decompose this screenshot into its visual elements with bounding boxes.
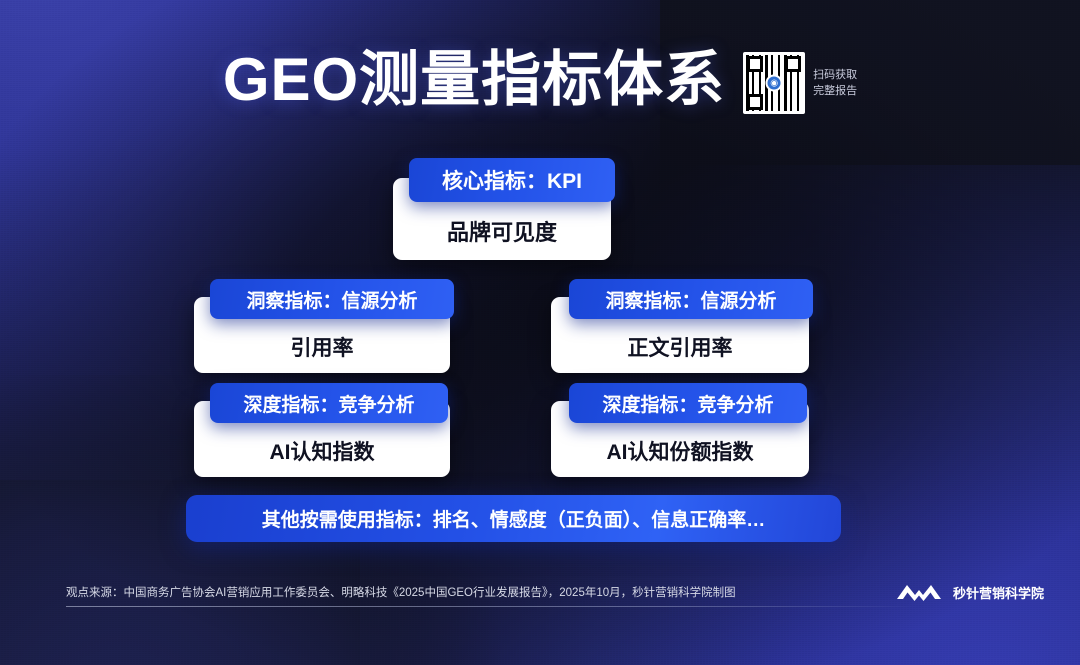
qr-finder-bottom-left xyxy=(747,94,763,110)
metric-card-value: AI认知份额指数 xyxy=(551,424,809,477)
qr-center-globe-icon: ◉ xyxy=(766,75,783,92)
qr-caption-line-1: 扫码获取 xyxy=(813,67,857,84)
qr-finder-top-left xyxy=(747,56,763,72)
page-title: GEO测量指标体系 xyxy=(223,47,725,113)
metric-card-kpi[interactable]: 品牌可见度 核心指标：KPI xyxy=(393,158,633,260)
qr-finder-top-right xyxy=(785,56,801,72)
metric-card-value: 引用率 xyxy=(194,320,450,373)
brand-lockup: 秒针营销科学院 xyxy=(896,580,1044,604)
qr-block[interactable]: ◉ 扫码获取 完整报告 xyxy=(743,52,857,114)
slide-root: GEO测量指标体系 ◉ 扫码获取 完整报告 品牌可见度 核心指标：KPI 引用率 xyxy=(0,0,1080,665)
qr-caption: 扫码获取 完整报告 xyxy=(813,67,857,100)
footer-divider xyxy=(66,606,918,607)
metric-card-chip[interactable]: 洞察指标：信源分析 xyxy=(569,279,813,319)
slide-header: GEO测量指标体系 ◉ 扫码获取 完整报告 xyxy=(0,46,1080,114)
metric-card-value: 正文引用率 xyxy=(551,320,809,373)
other-metrics-banner[interactable]: 其他按需使用指标：排名、情感度（正负面）、信息正确率… xyxy=(186,495,841,542)
metric-card-chip[interactable]: 洞察指标：信源分析 xyxy=(210,279,454,319)
metric-card-value: 品牌可见度 xyxy=(393,202,611,260)
double-chevron-mountain-logo-icon xyxy=(896,580,942,604)
metric-card-chip[interactable]: 核心指标：KPI xyxy=(409,158,615,202)
metric-card-depth-right[interactable]: AI认知份额指数 深度指标：竞争分析 xyxy=(551,383,831,477)
metric-card-value: AI认知指数 xyxy=(194,424,450,477)
qr-code-icon[interactable]: ◉ xyxy=(743,52,805,114)
footer-source-text: 观点来源：中国商务广告协会AI营销应用工作委员会、明略科技《2025中国GEO行… xyxy=(66,584,736,600)
metric-card-insight-right[interactable]: 正文引用率 洞察指标：信源分析 xyxy=(551,279,831,373)
metric-card-chip[interactable]: 深度指标：竞争分析 xyxy=(210,383,448,423)
brand-name: 秒针营销科学院 xyxy=(953,583,1044,602)
metric-card-chip[interactable]: 深度指标：竞争分析 xyxy=(569,383,807,423)
metric-card-depth-left[interactable]: AI认知指数 深度指标：竞争分析 xyxy=(194,383,472,477)
metric-card-insight-left[interactable]: 引用率 洞察指标：信源分析 xyxy=(194,279,472,373)
qr-caption-line-2: 完整报告 xyxy=(813,83,857,100)
